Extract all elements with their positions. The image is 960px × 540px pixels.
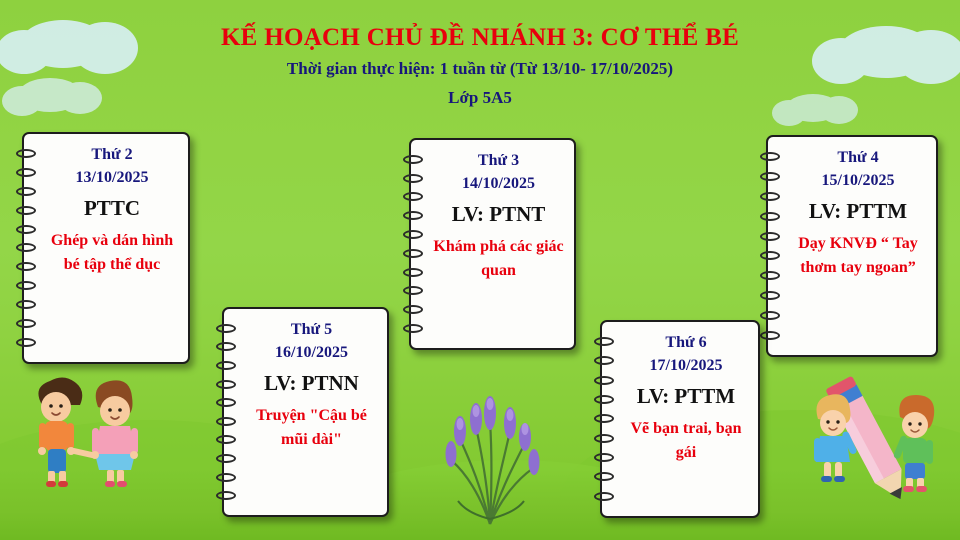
card-day: Thứ 6 [665, 331, 706, 354]
card-thu-2[interactable]: Thứ 2 13/10/2025 PTTC Ghép và dán hình b… [22, 132, 190, 364]
two-children-holding-hands-illustration [12, 371, 172, 516]
lavender-flowers-illustration [430, 369, 550, 534]
card-thu-3[interactable]: Thứ 3 14/10/2025 LV: PTNT Khám phá các g… [409, 138, 576, 350]
two-children-with-pencil-illustration [800, 367, 950, 522]
card-thu-4[interactable]: Thứ 4 15/10/2025 LV: PTTM Dạy KNVĐ “ Tay… [766, 135, 938, 357]
title-subtitle: Thời gian thực hiện: 1 tuần từ (Từ 13/10… [0, 59, 960, 79]
page-title: KẾ HOẠCH CHỦ ĐỀ NHÁNH 3: CƠ THỂ BÉ [0, 24, 960, 52]
card-date: 17/10/2025 [650, 354, 723, 377]
card-date: 16/10/2025 [275, 341, 348, 364]
card-thu-5[interactable]: Thứ 5 16/10/2025 LV: PTNN Truyện "Cậu bé… [222, 307, 389, 517]
card-subject: PTTC [84, 195, 140, 222]
title-class: Lớp 5A5 [0, 88, 960, 108]
card-detail: Truyện "Cậu bé mũi dài" [246, 404, 377, 454]
poster-title-block: KẾ HOẠCH CHỦ ĐỀ NHÁNH 3: CƠ THỂ BÉ Thời … [0, 24, 960, 108]
card-day: Thứ 3 [478, 149, 519, 172]
card-detail: Vẽ bạn trai, bạn gái [624, 417, 748, 467]
card-date: 15/10/2025 [822, 169, 895, 192]
card-day: Thứ 4 [837, 146, 878, 169]
card-detail: Ghép và dán hình bé tập thể dục [46, 229, 178, 279]
card-date: 14/10/2025 [462, 172, 535, 195]
card-detail: Khám phá các giác quan [433, 235, 564, 285]
card-day: Thứ 2 [91, 143, 132, 166]
card-subject: LV: PTTM [637, 383, 735, 410]
card-day: Thứ 5 [291, 318, 332, 341]
card-subject: LV: PTNT [452, 201, 546, 228]
card-subject: LV: PTNN [264, 370, 359, 397]
card-thu-6[interactable]: Thứ 6 17/10/2025 LV: PTTM Vẽ bạn trai, b… [600, 320, 760, 518]
poster-canvas: KẾ HOẠCH CHỦ ĐỀ NHÁNH 3: CƠ THỂ BÉ Thời … [0, 0, 960, 540]
card-subject: LV: PTTM [809, 198, 907, 225]
card-detail: Dạy KNVĐ “ Tay thơm tay ngoan” [790, 232, 926, 282]
card-date: 13/10/2025 [76, 166, 149, 189]
